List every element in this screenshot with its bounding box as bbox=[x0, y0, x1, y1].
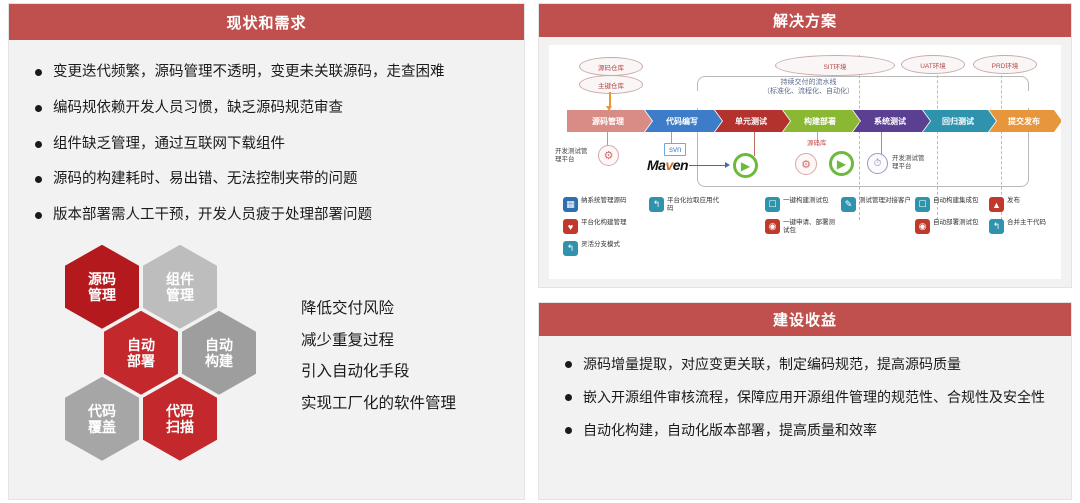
legend-label: 平台化构建管理 bbox=[581, 219, 627, 227]
legend-column-6: ▲ 发布 ↰ 合并主干代码 bbox=[989, 197, 1046, 241]
benefits-bullet-list: 源码增量提取，对应变更关联，制定编码规范，提高源码质量 嵌入开源组件审核流程，保… bbox=[563, 354, 1047, 441]
hexagon-label-line1: 源码 bbox=[88, 271, 116, 287]
legend-label: 测试管理对接客户 bbox=[859, 197, 911, 205]
hexagon-label-line1: 组件 bbox=[166, 271, 194, 287]
hexagon-label-line2: 覆盖 bbox=[88, 419, 116, 435]
list-item: ♥ 平台化构建管理 bbox=[563, 219, 627, 234]
pipeline-stage-system-test[interactable]: 系统测试 bbox=[853, 110, 930, 132]
hexagon-label-line2: 构建 bbox=[205, 353, 233, 369]
pipeline-caption: 持续交付的流水线 （标准化、流程化、自动化） bbox=[763, 78, 854, 97]
legend-label: 自动部署测试包 bbox=[933, 219, 979, 227]
list-item: ▲ 发布 bbox=[989, 197, 1046, 212]
grid-icon: ▦ bbox=[563, 197, 578, 212]
legend-label: 平台化拉取应用代码 bbox=[667, 197, 725, 213]
hexagon-label-line1: 代码 bbox=[88, 403, 116, 419]
package-icon: ☐ bbox=[915, 197, 930, 212]
panel-current-title: 现状和需求 bbox=[9, 4, 524, 40]
deploy-icon: ◉ bbox=[915, 219, 930, 234]
pipeline-stage-release[interactable]: 提交发布 bbox=[989, 110, 1061, 132]
pipeline-bracket-top bbox=[697, 76, 1029, 91]
legend-label: 纳系统管理源码 bbox=[581, 197, 627, 205]
maven-connector bbox=[689, 165, 727, 166]
hexagon-label-line2: 管理 bbox=[166, 287, 194, 303]
play-icon: ▶ bbox=[733, 153, 758, 178]
list-item: ↰ 灵活分支模式 bbox=[563, 241, 627, 256]
hexagon-label-line1: 自动 bbox=[127, 337, 155, 353]
rocket-icon: ▲ bbox=[989, 197, 1004, 212]
current-bullet-list: 变更迭代频繁，源码管理不透明，变更未关联源码，走查困难 编码规依赖开发人员习惯，… bbox=[33, 62, 500, 227]
branch-icon: ↰ bbox=[563, 241, 578, 256]
benefit-line: 降低交付风险 bbox=[301, 293, 456, 325]
list-item: ↰ 合并主干代码 bbox=[989, 219, 1046, 234]
repo-capsule-build: 主键仓库 bbox=[579, 75, 643, 94]
list-item: 组件缺乏管理，通过互联网下载组件 bbox=[33, 134, 500, 156]
list-item: ↰ 平台化拉取应用代码 bbox=[649, 197, 725, 213]
platform-label-left: 开发测试管理平台 bbox=[555, 148, 588, 165]
hexagon-label-line1: 代码 bbox=[166, 403, 194, 419]
panel-benefits: 建设收益 源码增量提取，对应变更关联，制定编码规范，提高源码质量 嵌入开源组件审… bbox=[538, 302, 1072, 500]
hexagon-auto-build: 自动 构建 bbox=[182, 311, 256, 395]
legend-column-2: ↰ 平台化拉取应用代码 bbox=[649, 197, 725, 220]
panel-solution-body: 源码仓库 主键仓库 SIT环境 UAT环境 PRD环境 持续交付的流水线 （标准… bbox=[539, 37, 1071, 287]
env-capsule-uat: UAT环境 bbox=[901, 55, 965, 74]
hexagon-source-code-management: 源码 管理 bbox=[65, 245, 139, 329]
stage-stem-5 bbox=[881, 132, 882, 156]
pipeline-stage-row: 源码管理 代码编写 单元测试 构建部署 系统测试 回归测试 提交发布 bbox=[567, 110, 1055, 132]
pipeline-stage-regression-test[interactable]: 回归测试 bbox=[923, 110, 996, 132]
list-item: 自动化构建，自动化版本部署，提高质量和效率 bbox=[563, 420, 1047, 441]
list-item: 版本部署需人工干预，开发人员疲于处理部署问题 bbox=[33, 205, 500, 227]
list-item: ☐ 自动构建集成包 bbox=[915, 197, 979, 212]
list-item: 源码增量提取，对应变更关联，制定编码规范，提高源码质量 bbox=[563, 354, 1047, 375]
panel-benefits-body: 源码增量提取，对应变更关联，制定编码规范，提高源码质量 嵌入开源组件审核流程，保… bbox=[539, 336, 1071, 441]
package-icon: ☐ bbox=[765, 197, 780, 212]
env-capsule-prd: PRD环境 bbox=[973, 55, 1037, 74]
legend-column-3: ☐ 一键构建测试包 ◉ 一键申请、部署测试包 bbox=[765, 197, 841, 242]
benefit-text-block: 降低交付风险 减少重复过程 引入自动化手段 实现工厂化的软件管理 bbox=[301, 293, 456, 420]
hexagon-cluster: 源码 管理 组件 管理 自动 部署 自动 构建 bbox=[51, 245, 281, 475]
hexagon-component-management: 组件 管理 bbox=[143, 245, 217, 329]
hexagon-label-line2: 管理 bbox=[88, 287, 116, 303]
play-icon: ▶ bbox=[829, 151, 854, 176]
source-lib-label: 源码库 bbox=[807, 140, 827, 148]
legend-column-5: ☐ 自动构建集成包 ◉ 自动部署测试包 bbox=[915, 197, 979, 241]
pipeline-stage-source-management[interactable]: 源码管理 bbox=[567, 110, 652, 132]
legend-label: 一键申请、部署测试包 bbox=[783, 219, 841, 235]
list-item: 编码规依赖开发人员习惯，缺乏源码规范审查 bbox=[33, 98, 500, 120]
benefit-line: 实现工厂化的软件管理 bbox=[301, 388, 456, 420]
hexagon-label-line2: 部署 bbox=[127, 353, 155, 369]
platform-label-right: 开发测试管理平台 bbox=[892, 155, 925, 172]
list-item: ▦ 纳系统管理源码 bbox=[563, 197, 627, 212]
panel-current-body: 变更迭代频繁，源码管理不透明，变更未关联源码，走查困难 编码规依赖开发人员习惯，… bbox=[9, 40, 524, 475]
legend-column-4: ✎ 测试管理对接客户 bbox=[841, 197, 911, 219]
legend-label: 发布 bbox=[1007, 197, 1020, 205]
pipeline-stage-code-writing[interactable]: 代码编写 bbox=[645, 110, 722, 132]
legend-label: 合并主干代码 bbox=[1007, 219, 1046, 227]
branch-icon: ↰ bbox=[649, 197, 664, 212]
legend-label: 自动构建集成包 bbox=[933, 197, 979, 205]
maven-connector-arrow bbox=[725, 162, 730, 168]
edit-icon: ✎ bbox=[841, 197, 856, 212]
hexagon-label-line1: 自动 bbox=[205, 337, 233, 353]
hexagon-auto-deploy: 自动 部署 bbox=[104, 311, 178, 395]
panel-solution: 解决方案 源码仓库 主键仓库 SIT环境 UAT环境 PRD环境 bbox=[538, 3, 1072, 288]
repo-capsule-source: 源码仓库 bbox=[579, 57, 643, 76]
list-item: 变更迭代频繁，源码管理不透明，变更未关联源码，走查困难 bbox=[33, 62, 500, 84]
maven-logo: Maven bbox=[647, 157, 688, 173]
list-item: ✎ 测试管理对接客户 bbox=[841, 197, 911, 212]
list-item: ◉ 一键申请、部署测试包 bbox=[765, 219, 841, 235]
deploy-icon: ◉ bbox=[765, 219, 780, 234]
panel-solution-title: 解决方案 bbox=[539, 4, 1071, 37]
stage-stem-3 bbox=[754, 132, 755, 156]
branch-icon: ↰ bbox=[989, 219, 1004, 234]
list-item: ◉ 自动部署测试包 bbox=[915, 219, 979, 234]
meter-icon: ⏱ bbox=[867, 153, 888, 174]
panel-current-situation: 现状和需求 变更迭代频繁，源码管理不透明，变更未关联源码，走查困难 编码规依赖开… bbox=[8, 3, 525, 500]
gear-icon: ⚙ bbox=[795, 153, 817, 175]
pipeline-diagram: 源码仓库 主键仓库 SIT环境 UAT环境 PRD环境 持续交付的流水线 （标准… bbox=[549, 45, 1061, 279]
list-item: 嵌入开源组件审核流程，保障应用开源组件管理的规范性、合规性及安全性 bbox=[563, 387, 1047, 408]
hexagon-code-scan: 代码 扫描 bbox=[143, 377, 217, 461]
panel-benefits-title: 建设收益 bbox=[539, 303, 1071, 336]
list-item: 源码的构建耗时、易出错、无法控制夹带的问题 bbox=[33, 169, 500, 191]
benefit-line: 减少重复过程 bbox=[301, 325, 456, 357]
pipeline-stage-unit-test[interactable]: 单元测试 bbox=[715, 110, 790, 132]
hexagon-code-coverage: 代码 覆盖 bbox=[65, 377, 139, 461]
pipeline-stage-build-deploy[interactable]: 构建部署 bbox=[783, 110, 860, 132]
pipeline-caption-line2: （标准化、流程化、自动化） bbox=[763, 87, 854, 96]
legend-label: 一键构建测试包 bbox=[783, 197, 829, 205]
svn-icon: svn bbox=[664, 143, 686, 156]
heart-icon: ♥ bbox=[563, 219, 578, 234]
slide-canvas: 现状和需求 变更迭代频繁，源码管理不透明，变更未关联源码，走查困难 编码规依赖开… bbox=[0, 0, 1080, 503]
pipeline-caption-line1: 持续交付的流水线 bbox=[763, 78, 854, 87]
list-item: ☐ 一键构建测试包 bbox=[765, 197, 841, 212]
legend-label: 灵活分支模式 bbox=[581, 241, 620, 249]
env-capsule-sit: SIT环境 bbox=[775, 55, 895, 76]
gear-icon: ⚙ bbox=[598, 145, 619, 166]
hexagon-label-line2: 扫描 bbox=[166, 419, 194, 435]
repo-connector-line bbox=[609, 92, 611, 107]
benefit-line: 引入自动化手段 bbox=[301, 356, 456, 388]
legend-column-1: ▦ 纳系统管理源码 ♥ 平台化构建管理 ↰ 灵活分支模式 bbox=[563, 197, 627, 263]
